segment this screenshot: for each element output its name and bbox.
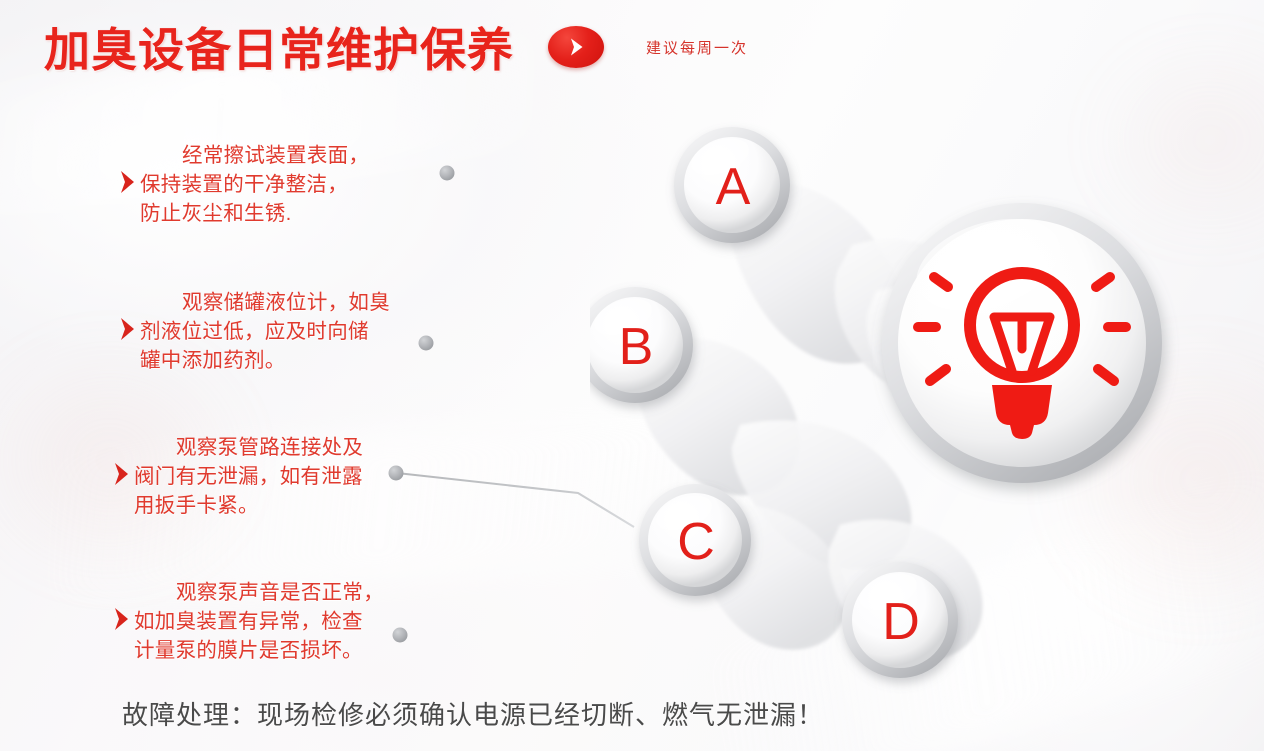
- node-a[interactable]: A: [674, 127, 790, 243]
- molecule-diagram: A B C D: [590, 95, 1180, 695]
- chevron-right-icon: [118, 167, 138, 202]
- page-title: 加臭设备日常维护保养: [44, 14, 514, 80]
- connector-dot-b: [419, 336, 434, 351]
- maintenance-item-d-text: 观察泵声音是否正常，如加臭装置有异常，检查计量泵的膜片是否损坏。: [134, 578, 384, 665]
- node-a-label: A: [716, 158, 751, 216]
- node-d-label: D: [882, 593, 920, 651]
- maintenance-item-b-text: 观察储罐液位计，如臭剂液位过低，应及时向储罐中添加药剂。: [140, 288, 390, 375]
- slide-canvas: 加臭设备日常维护保养 建议每周一次: [0, 0, 1264, 751]
- chevron-right-icon: [112, 604, 132, 639]
- node-b-label: B: [619, 318, 654, 376]
- maintenance-item-b: 观察储罐液位计，如臭剂液位过低，应及时向储罐中添加药剂。: [118, 288, 418, 375]
- maintenance-item-a: 经常擦试装置表面，保持装置的干净整洁，防止灰尘和生锈.: [118, 141, 418, 228]
- chevron-right-icon: [118, 314, 138, 349]
- frequency-note: 建议每周一次: [646, 37, 748, 58]
- footer-warning: 故障处理：现场检修必须确认电源已经切断、燃气无泄漏！: [122, 695, 824, 732]
- node-c[interactable]: C: [639, 484, 751, 596]
- maintenance-item-d: 观察泵声音是否正常，如加臭装置有异常，检查计量泵的膜片是否损坏。: [112, 578, 412, 665]
- node-d[interactable]: D: [842, 562, 958, 678]
- slide-header: 加臭设备日常维护保养 建议每周一次: [44, 14, 748, 80]
- maintenance-item-a-text: 经常擦试装置表面，保持装置的干净整洁，防止灰尘和生锈.: [140, 141, 369, 228]
- center-node[interactable]: [882, 202, 1162, 483]
- chevron-right-icon: [112, 459, 132, 494]
- maintenance-item-c-text: 观察泵管路连接处及阀门有无泄漏，如有泄露用扳手卡紧。: [134, 433, 363, 520]
- connector-dot-a: [440, 166, 455, 181]
- play-arrow-icon: [548, 26, 604, 68]
- node-c-label: C: [677, 513, 715, 571]
- maintenance-item-c: 观察泵管路连接处及阀门有无泄漏，如有泄露用扳手卡紧。: [112, 433, 412, 520]
